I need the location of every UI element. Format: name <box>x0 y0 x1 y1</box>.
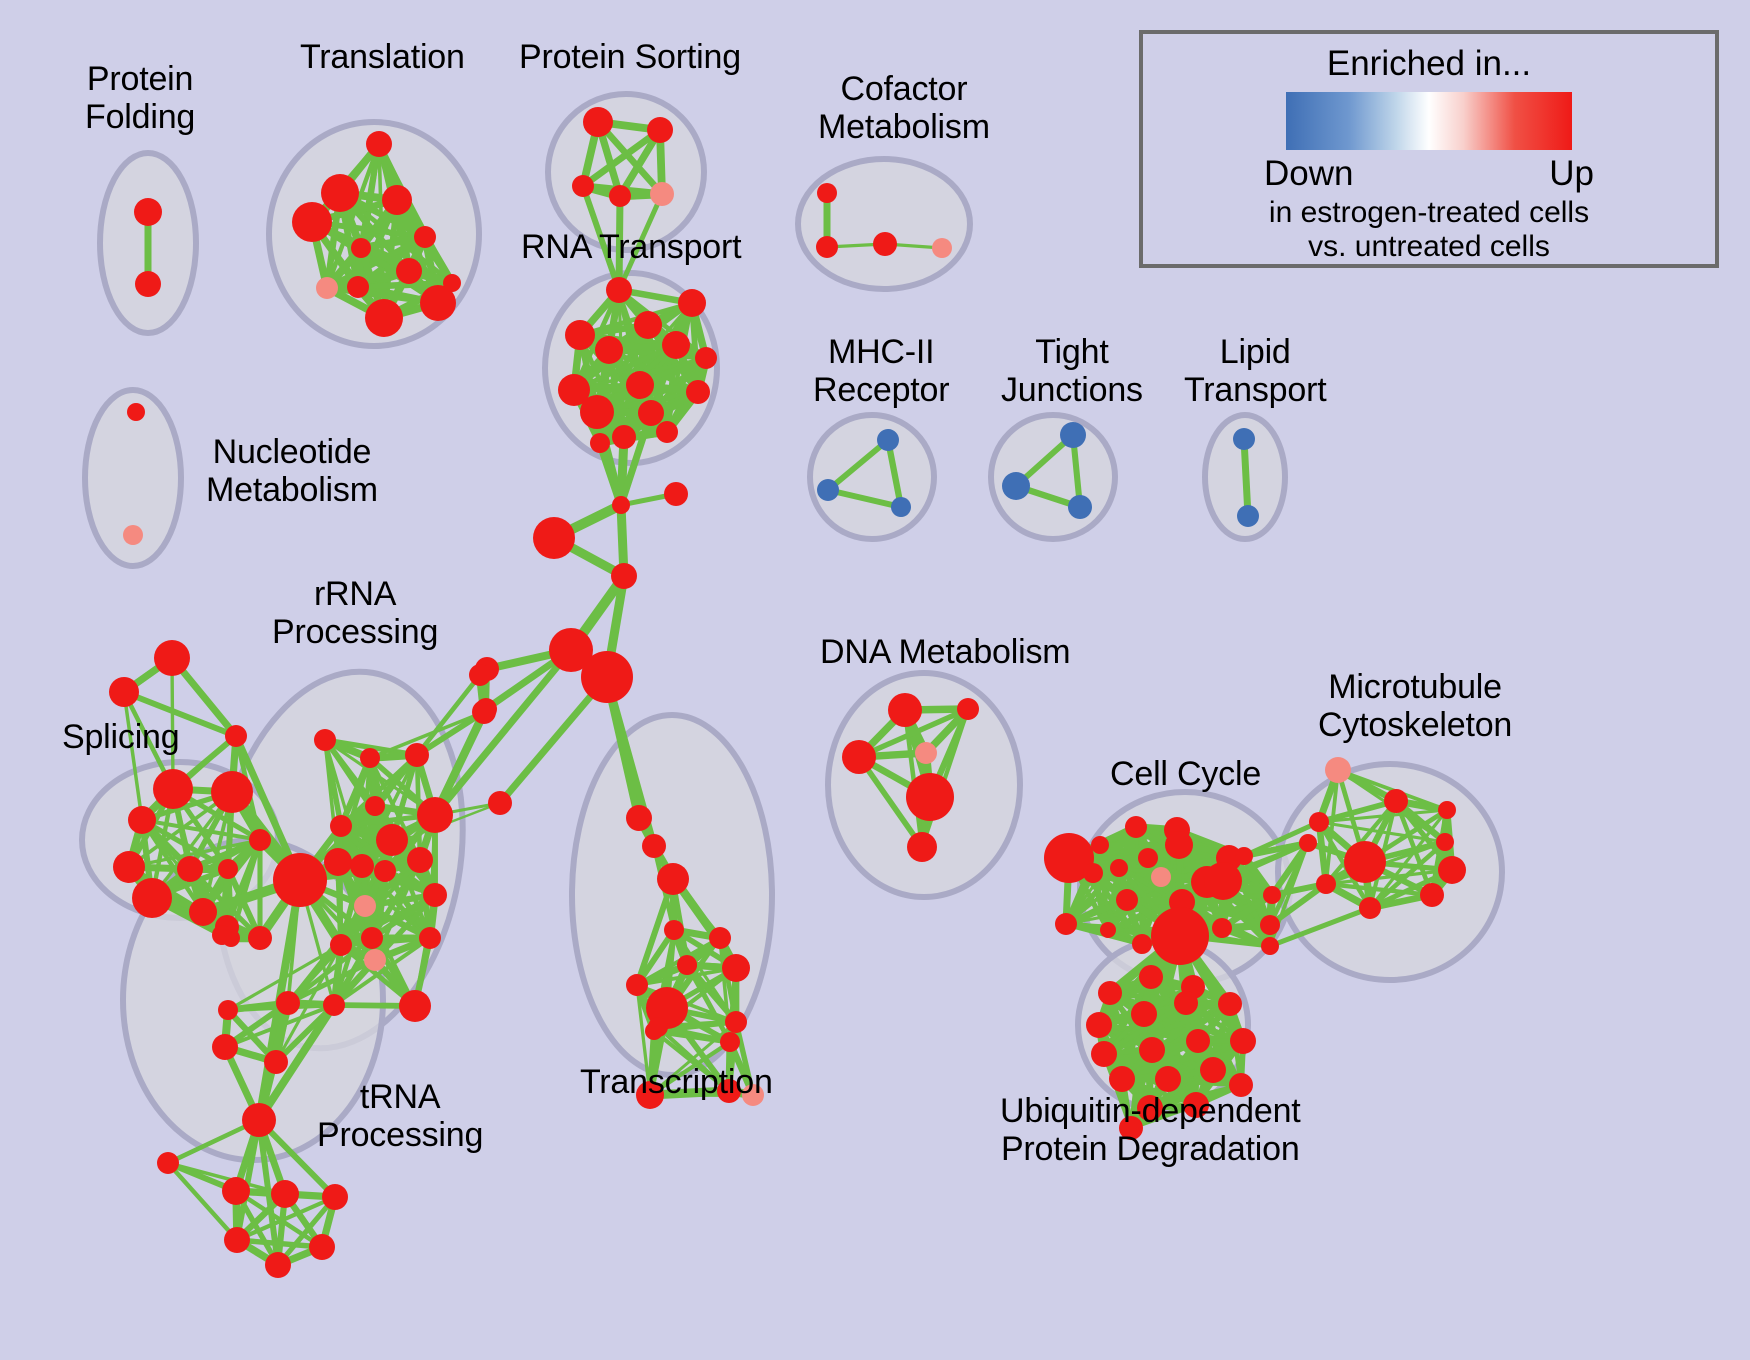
pathway-node[interactable] <box>888 693 922 727</box>
cluster-label-rna-transport: RNA Transport <box>521 228 741 266</box>
pathway-node[interactable] <box>1420 883 1444 907</box>
pathway-node[interactable] <box>1110 859 1128 877</box>
pathway-node[interactable] <box>572 175 594 197</box>
pathway-node[interactable] <box>842 740 876 774</box>
pathway-node[interactable] <box>1055 913 1077 935</box>
pathway-node[interactable] <box>1091 1041 1117 1067</box>
pathway-node[interactable] <box>642 834 666 858</box>
pathway-node[interactable] <box>218 859 238 879</box>
cluster-label-dna-metabolism: DNA Metabolism <box>820 633 1070 671</box>
pathway-node[interactable] <box>1230 1028 1256 1054</box>
legend-low-label: Down <box>1264 154 1353 194</box>
pathway-node[interactable] <box>709 927 731 949</box>
pathway-node[interactable] <box>816 236 838 258</box>
pathway-node[interactable] <box>677 955 697 975</box>
pathway-node[interactable] <box>153 769 193 809</box>
pathway-node[interactable] <box>488 791 512 815</box>
pathway-node[interactable] <box>212 925 232 945</box>
pathway-node[interactable] <box>423 883 447 907</box>
pathway-node[interactable] <box>626 974 648 996</box>
pathway-node[interactable] <box>612 496 630 514</box>
pathway-node[interactable] <box>350 854 374 878</box>
pathway-node[interactable] <box>565 320 595 350</box>
pathway-node[interactable] <box>1263 886 1281 904</box>
pathway-node[interactable] <box>109 677 139 707</box>
pathway-node[interactable] <box>626 805 652 831</box>
pathway-node[interactable] <box>1186 1029 1210 1053</box>
pathway-node[interactable] <box>873 232 897 256</box>
pathway-node[interactable] <box>323 994 345 1016</box>
pathway-node[interactable] <box>906 773 954 821</box>
pathway-node[interactable] <box>533 517 575 559</box>
pathway-node[interactable] <box>638 400 664 426</box>
pathway-node[interactable] <box>472 700 496 724</box>
pathway-node[interactable] <box>609 185 631 207</box>
pathway-node[interactable] <box>218 1000 238 1020</box>
pathway-node[interactable] <box>612 425 636 449</box>
pathway-node[interactable] <box>1174 991 1198 1015</box>
cluster-label-protein-folding: Protein Folding <box>85 60 195 136</box>
pathway-node[interactable] <box>1325 757 1351 783</box>
pathway-node[interactable] <box>1002 472 1030 500</box>
legend-caption-line1: in estrogen-treated cells <box>1269 196 1589 230</box>
pathway-node[interactable] <box>583 107 613 137</box>
pathway-node[interactable] <box>1116 889 1138 911</box>
cluster-label-mhc-ii-receptor: MHC-II Receptor <box>813 333 949 409</box>
pathway-node[interactable] <box>915 742 937 764</box>
pathway-node[interactable] <box>132 878 172 918</box>
pathway-node[interactable] <box>222 1177 250 1205</box>
pathway-node[interactable] <box>309 1234 335 1260</box>
pathway-node[interactable] <box>957 698 979 720</box>
pathway-node[interactable] <box>1261 937 1279 955</box>
pathway-node[interactable] <box>249 829 271 851</box>
pathway-node[interactable] <box>376 824 408 856</box>
cluster-label-ubiquitin-degradation: Ubiquitin-dependent Protein Degradation <box>1000 1092 1301 1168</box>
pathway-node[interactable] <box>134 198 162 226</box>
pathway-node[interactable] <box>225 725 247 747</box>
pathway-node[interactable] <box>1139 965 1163 989</box>
pathway-node[interactable] <box>365 796 385 816</box>
pathway-node[interactable] <box>374 860 396 882</box>
pathway-node[interactable] <box>720 1032 740 1052</box>
pathway-node[interactable] <box>1068 495 1092 519</box>
pathway-node[interactable] <box>271 1180 299 1208</box>
pathway-node[interactable] <box>1260 915 1280 935</box>
pathway-node[interactable] <box>678 289 706 317</box>
pathway-node[interactable] <box>1384 789 1408 813</box>
pathway-node[interactable] <box>695 347 717 369</box>
pathway-node[interactable] <box>662 331 690 359</box>
pathway-node[interactable] <box>1233 428 1255 450</box>
pathway-node[interactable] <box>891 497 911 517</box>
pathway-node[interactable] <box>407 847 433 873</box>
pathway-node[interactable] <box>650 182 674 206</box>
pathway-node[interactable] <box>580 395 614 429</box>
pathway-node[interactable] <box>128 806 156 834</box>
pathway-node[interactable] <box>1131 1001 1157 1027</box>
pathway-node[interactable] <box>722 954 750 982</box>
pathway-node[interactable] <box>1438 801 1456 819</box>
pathway-node[interactable] <box>177 856 203 882</box>
pathway-node[interactable] <box>1086 1012 1112 1038</box>
legend-endpoints: Down Up <box>1264 154 1594 194</box>
pathway-node[interactable] <box>1165 831 1193 859</box>
pathway-node[interactable] <box>634 311 662 339</box>
pathway-node[interactable] <box>1109 1066 1135 1092</box>
pathway-node[interactable] <box>1083 863 1103 883</box>
pathway-node[interactable] <box>361 927 383 949</box>
pathway-node[interactable] <box>248 926 272 950</box>
cluster-label-translation: Translation <box>300 38 465 76</box>
pathway-node[interactable] <box>611 563 637 589</box>
pathway-node[interactable] <box>1091 836 1109 854</box>
pathway-node[interactable] <box>324 848 352 876</box>
pathway-node[interactable] <box>242 1103 276 1137</box>
pathway-node[interactable] <box>1132 934 1152 954</box>
pathway-node[interactable] <box>1438 856 1466 884</box>
pathway-node[interactable] <box>656 421 678 443</box>
pathway-node[interactable] <box>1125 816 1147 838</box>
pathway-node[interactable] <box>354 895 376 917</box>
cluster-label-cofactor-metabolism: Cofactor Metabolism <box>818 70 990 146</box>
cluster-label-transcription: Transcription <box>580 1063 773 1101</box>
pathway-node[interactable] <box>1139 1037 1165 1063</box>
pathway-node[interactable] <box>664 482 688 506</box>
pathway-node[interactable] <box>364 949 386 971</box>
pathway-node[interactable] <box>595 336 623 364</box>
pathway-node[interactable] <box>626 371 654 399</box>
pathway-node[interactable] <box>264 1050 288 1074</box>
pathway-node[interactable] <box>1212 918 1232 938</box>
pathway-node[interactable] <box>1436 833 1454 851</box>
pathway-node[interactable] <box>366 131 392 157</box>
legend-title: Enriched in... <box>1327 44 1531 84</box>
cluster-ellipse-mhc-ii-receptor[interactable] <box>810 415 934 539</box>
pathway-node[interactable] <box>273 853 327 907</box>
pathway-node[interactable] <box>725 1011 747 1033</box>
cluster-label-rrna-processing: rRNA Processing <box>272 575 438 651</box>
pathway-node[interactable] <box>347 276 369 298</box>
pathway-node[interactable] <box>414 226 436 248</box>
enrichment-map-figure: Protein FoldingTranslationProtein Sortin… <box>0 0 1750 1360</box>
cluster-label-splicing: Splicing <box>62 718 179 756</box>
pathway-node[interactable] <box>1204 862 1242 900</box>
pathway-node[interactable] <box>189 898 217 926</box>
cluster-label-lipid-transport: Lipid Transport <box>1184 333 1326 409</box>
pathway-node[interactable] <box>321 174 359 212</box>
pathway-node[interactable] <box>154 640 190 676</box>
pathway-node[interactable] <box>365 299 403 337</box>
pathway-node[interactable] <box>1155 1066 1181 1092</box>
pathway-node[interactable] <box>405 743 429 767</box>
pathway-node[interactable] <box>292 202 332 242</box>
pathway-node[interactable] <box>1151 907 1209 965</box>
pathway-node[interactable] <box>157 1152 179 1174</box>
pathway-node[interactable] <box>417 797 453 833</box>
pathway-node[interactable] <box>1237 505 1259 527</box>
pathway-node[interactable] <box>664 920 684 940</box>
pathway-node[interactable] <box>648 1017 668 1037</box>
pathway-node[interactable] <box>606 277 632 303</box>
cluster-label-tight-junctions: Tight Junctions <box>1001 333 1143 409</box>
pathway-node[interactable] <box>686 380 710 404</box>
legend-caption-line2: vs. untreated cells <box>1308 230 1550 264</box>
pathway-node[interactable] <box>322 1184 348 1210</box>
pathway-node[interactable] <box>1138 848 1158 868</box>
pathway-node[interactable] <box>469 664 491 686</box>
pathway-node[interactable] <box>382 185 412 215</box>
pathway-node[interactable] <box>1100 922 1116 938</box>
pathway-node[interactable] <box>276 991 300 1015</box>
pathway-node[interactable] <box>396 258 422 284</box>
pathway-node[interactable] <box>135 271 161 297</box>
network-edge <box>1244 439 1248 516</box>
pathway-node[interactable] <box>316 277 338 299</box>
pathway-node[interactable] <box>123 525 143 545</box>
pathway-node[interactable] <box>1235 847 1253 865</box>
cluster-label-nucleotide-metabolism: Nucleotide Metabolism <box>206 433 378 509</box>
cluster-label-microtubule-cytoskeleton: Microtubule Cytoskeleton <box>1318 668 1512 744</box>
pathway-node[interactable] <box>932 238 952 258</box>
legend-high-label: Up <box>1549 154 1594 194</box>
pathway-node[interactable] <box>212 1034 238 1060</box>
pathway-node[interactable] <box>1218 992 1242 1016</box>
pathway-node[interactable] <box>419 927 441 949</box>
pathway-node[interactable] <box>211 771 253 813</box>
legend-box: Enriched in... Down Up in estrogen-treat… <box>1139 30 1719 268</box>
pathway-node[interactable] <box>647 117 673 143</box>
pathway-node[interactable] <box>1200 1057 1226 1083</box>
pathway-node[interactable] <box>1316 874 1336 894</box>
pathway-node[interactable] <box>877 429 899 451</box>
pathway-node[interactable] <box>817 183 837 203</box>
pathway-node[interactable] <box>1359 897 1381 919</box>
cluster-label-protein-sorting: Protein Sorting <box>519 38 741 76</box>
pathway-node[interactable] <box>265 1252 291 1278</box>
pathway-node[interactable] <box>330 815 352 837</box>
pathway-node[interactable] <box>581 651 633 703</box>
pathway-node[interactable] <box>351 238 371 258</box>
cluster-label-trna-processing: tRNA Processing <box>317 1078 483 1154</box>
cluster-ellipse-protein-sorting[interactable] <box>548 94 704 250</box>
pathway-node[interactable] <box>224 1227 250 1253</box>
pathway-node[interactable] <box>817 479 839 501</box>
pathway-node[interactable] <box>1344 841 1386 883</box>
pathway-node[interactable] <box>590 433 610 453</box>
pathway-node[interactable] <box>443 274 461 292</box>
pathway-node[interactable] <box>113 851 145 883</box>
color-gradient-bar <box>1286 92 1572 150</box>
pathway-node[interactable] <box>1299 834 1317 852</box>
pathway-node[interactable] <box>657 863 689 895</box>
pathway-node[interactable] <box>1098 981 1122 1005</box>
pathway-node[interactable] <box>314 729 336 751</box>
pathway-node[interactable] <box>1060 422 1086 448</box>
pathway-node[interactable] <box>1151 867 1171 887</box>
pathway-node[interactable] <box>330 934 352 956</box>
pathway-node[interactable] <box>127 403 145 421</box>
cluster-label-cell-cycle: Cell Cycle <box>1110 755 1261 793</box>
pathway-node[interactable] <box>399 990 431 1022</box>
pathway-node[interactable] <box>360 748 380 768</box>
pathway-node[interactable] <box>1309 812 1329 832</box>
pathway-node[interactable] <box>907 832 937 862</box>
